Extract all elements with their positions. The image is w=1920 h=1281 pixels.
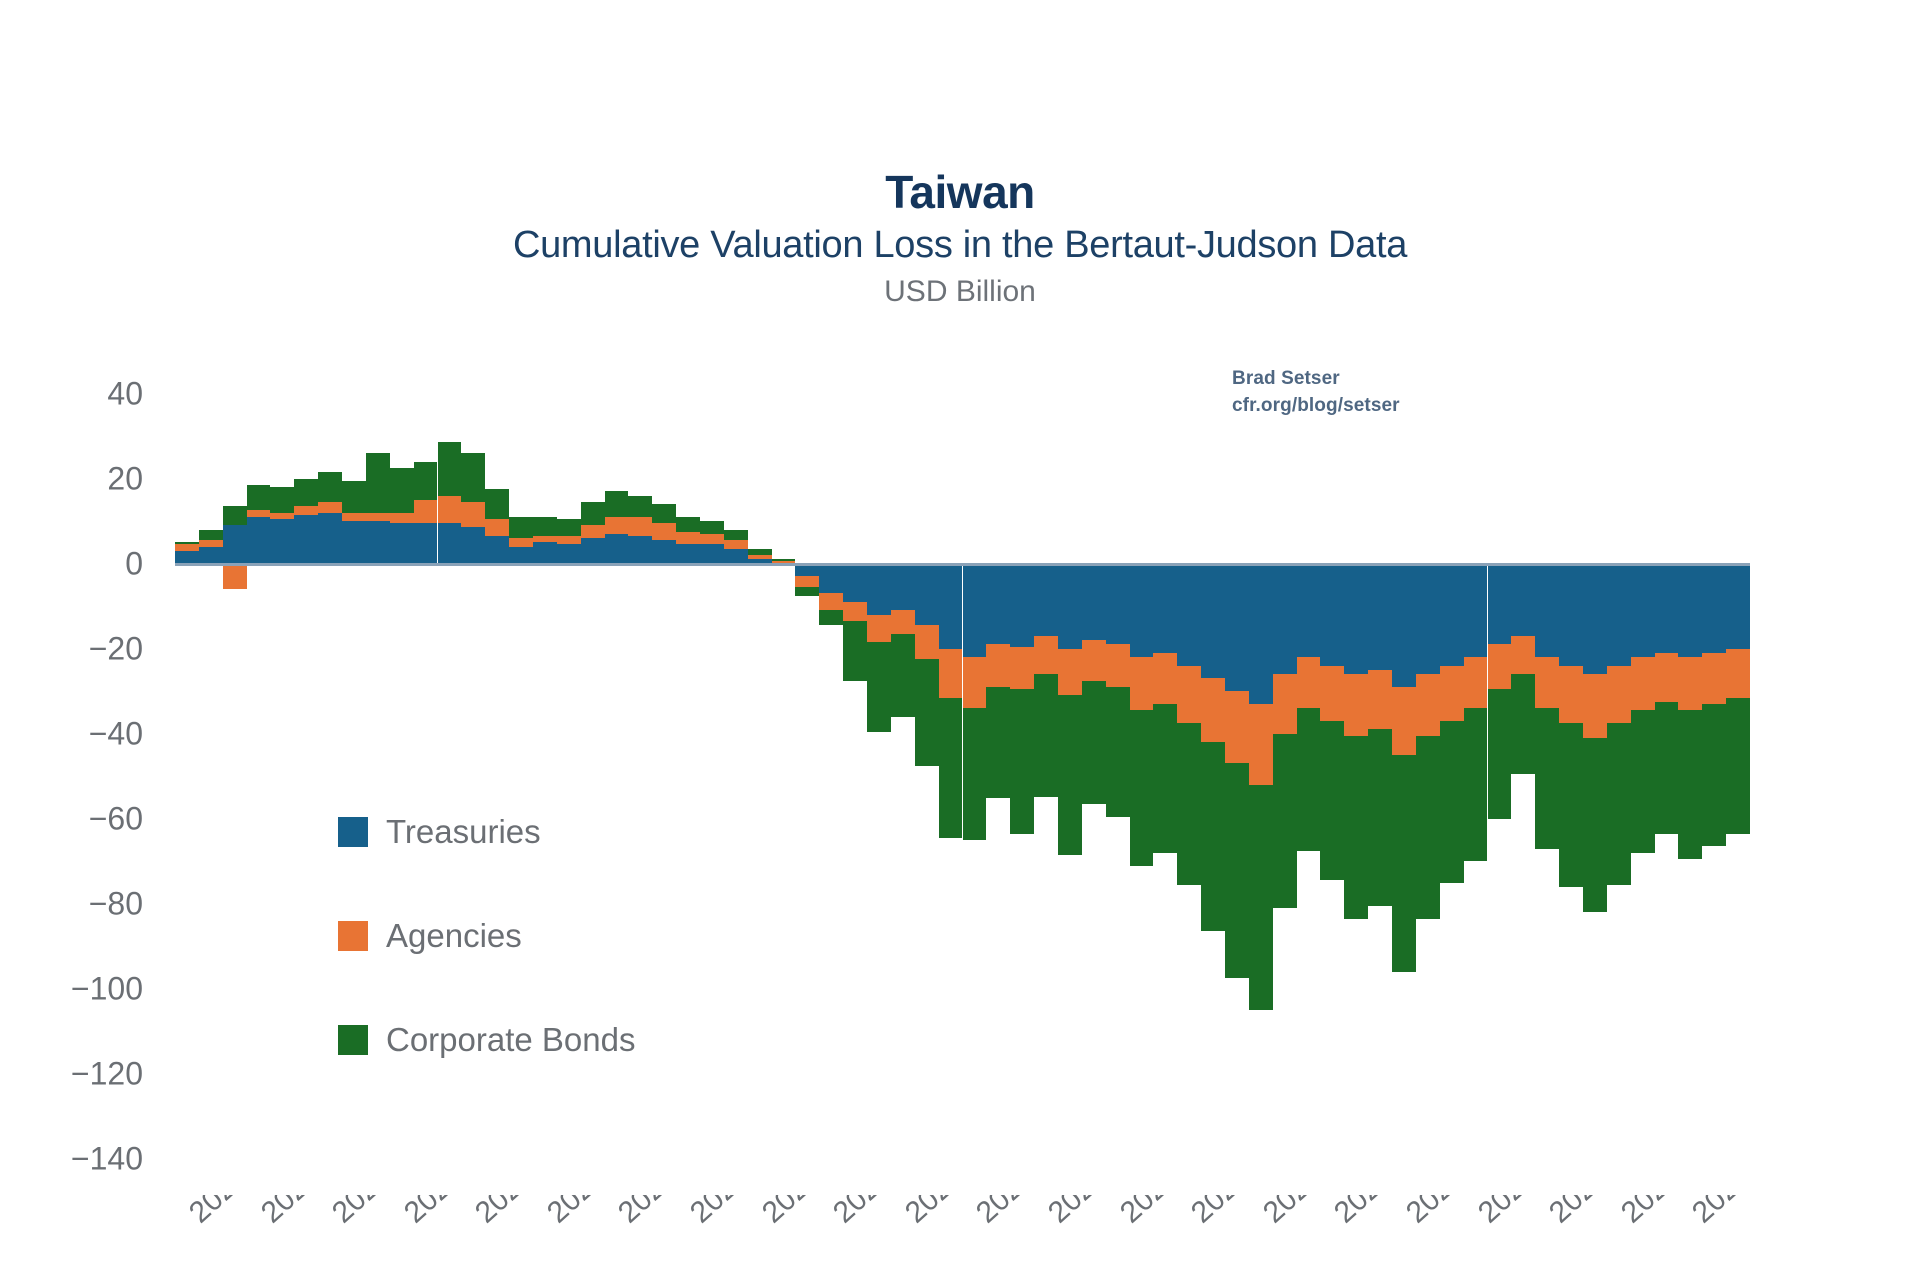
bar-segment-agencies [1440, 666, 1464, 721]
bar-segment-treasuries [294, 515, 318, 564]
bar-segment-treasuries [724, 549, 748, 564]
bar-segment-agencies [1010, 647, 1034, 690]
bar-column[interactable] [223, 368, 247, 1193]
bar-segment-corporate-bonds [1655, 702, 1679, 834]
bar-segment-corporate-bonds [915, 659, 939, 765]
bar-column[interactable] [1488, 368, 1512, 1193]
x-axis-tick-label: 2020 [183, 1195, 255, 1230]
bar-segment-treasuries [390, 523, 414, 563]
bar-column[interactable] [700, 368, 724, 1193]
bar-column[interactable] [1631, 368, 1655, 1193]
bar-segment-agencies [819, 593, 843, 610]
bar-segment-corporate-bonds [270, 487, 294, 513]
bar-column[interactable] [1153, 368, 1177, 1193]
bar-segment-agencies [891, 610, 915, 633]
bar-segment-corporate-bonds [1034, 674, 1058, 797]
bar-segment-agencies [581, 525, 605, 538]
x-axis-tick-label: 2021 [541, 1195, 613, 1230]
bar-segment-agencies [199, 540, 223, 546]
x-axis: 2020202020202020202120212021202120222022… [175, 1195, 1750, 1281]
bar-column[interactable] [1082, 368, 1106, 1193]
bar-segment-treasuries [1416, 564, 1440, 675]
bar-column[interactable] [1535, 368, 1559, 1193]
bar-segment-corporate-bonds [1344, 736, 1368, 919]
bar-segment-corporate-bonds [533, 517, 557, 536]
bar-segment-agencies [867, 615, 891, 643]
bar-segment-agencies [1058, 649, 1082, 696]
bar-segment-corporate-bonds [1607, 723, 1631, 885]
bar-segment-agencies [557, 536, 581, 545]
bar-segment-agencies [366, 513, 390, 522]
bar-segment-agencies [1702, 653, 1726, 704]
x-axis-tick-label: 2021 [684, 1195, 756, 1230]
bar-segment-treasuries [1607, 564, 1631, 666]
bar-segment-agencies [1273, 674, 1297, 734]
bar-segment-treasuries [1153, 564, 1177, 653]
y-axis-tick-label: −140 [71, 1140, 143, 1177]
bar-segment-corporate-bonds [1082, 681, 1106, 804]
x-axis-tick-label: 2020 [255, 1195, 327, 1230]
bar-column[interactable] [963, 368, 987, 1193]
bar-segment-agencies [963, 657, 987, 708]
bar-segment-corporate-bonds [795, 587, 819, 596]
bar-column[interactable] [175, 368, 199, 1193]
y-axis-tick-label: −40 [89, 715, 143, 752]
x-axis-tick-label: 2024 [1328, 1195, 1400, 1230]
bar-segment-agencies [247, 510, 271, 516]
x-axis-tick-label: 2025 [1686, 1195, 1750, 1230]
bar-segment-treasuries [414, 523, 438, 563]
bar-segment-treasuries [366, 521, 390, 564]
bar-segment-agencies [533, 536, 557, 542]
bar-segment-agencies [1416, 674, 1440, 736]
legend-swatch-icon [338, 1025, 368, 1055]
bar-column[interactable] [772, 368, 796, 1193]
bar-column[interactable] [294, 368, 318, 1193]
bar-segment-agencies [605, 517, 629, 534]
bar-segment-treasuries [1559, 564, 1583, 666]
bar-segment-corporate-bonds [509, 517, 533, 538]
x-axis-tick-label: 2025 [1615, 1195, 1687, 1230]
bar-column[interactable] [986, 368, 1010, 1193]
bar-column[interactable] [1201, 368, 1225, 1193]
bar-column[interactable] [1726, 368, 1750, 1193]
y-axis: 40200−20−40−60−80−100−120−140 [0, 368, 175, 1193]
bar-column[interactable] [1702, 368, 1726, 1193]
bar-column[interactable] [1392, 368, 1416, 1193]
bar-column[interactable] [676, 368, 700, 1193]
x-axis-tick-label: 2022 [827, 1195, 899, 1230]
bar-segment-treasuries [1130, 564, 1154, 658]
bar-column[interactable] [1344, 368, 1368, 1193]
bar-segment-corporate-bonds [1153, 704, 1177, 853]
bar-column[interactable] [652, 368, 676, 1193]
bar-column[interactable] [748, 368, 772, 1193]
bar-column[interactable] [1559, 368, 1583, 1193]
bar-column[interactable] [724, 368, 748, 1193]
bar-segment-treasuries [628, 536, 652, 564]
bar-segment-agencies [1082, 640, 1106, 680]
bar-column[interactable] [1416, 368, 1440, 1193]
bar-segment-treasuries [509, 547, 533, 564]
bar-segment-treasuries [1010, 564, 1034, 647]
bar-column[interactable] [1320, 368, 1344, 1193]
x-axis-tick-label: 2023 [1257, 1195, 1329, 1230]
bar-segment-agencies [1464, 657, 1488, 708]
bar-segment-corporate-bonds [1273, 734, 1297, 908]
legend-item-corporate[interactable]: Corporate Bonds [338, 988, 635, 1092]
bar-segment-corporate-bonds [461, 453, 485, 502]
bar-segment-agencies [1344, 674, 1368, 736]
bar-segment-treasuries [533, 542, 557, 563]
bar-segment-agencies [175, 544, 199, 550]
legend-swatch-icon [338, 921, 368, 951]
bar-segment-agencies [1583, 674, 1607, 738]
bar-segment-treasuries [891, 564, 915, 611]
bar-column[interactable] [1106, 368, 1130, 1193]
bar-column[interactable] [939, 368, 963, 1193]
bar-segment-corporate-bonds [1416, 736, 1440, 919]
bar-segment-treasuries [1464, 564, 1488, 658]
bar-segment-agencies [1106, 644, 1130, 687]
bar-segment-agencies [1225, 691, 1249, 763]
bar-segment-treasuries [1201, 564, 1225, 679]
bar-segment-corporate-bonds [485, 489, 509, 519]
bar-segment-agencies [1034, 636, 1058, 674]
bar-segment-treasuries [1583, 564, 1607, 675]
bar-segment-corporate-bonds [414, 462, 438, 500]
bar-segment-corporate-bonds [748, 549, 772, 555]
bar-segment-corporate-bonds [1488, 689, 1512, 819]
bar-segment-agencies [1678, 657, 1702, 710]
y-axis-tick-label: −100 [71, 970, 143, 1007]
bar-segment-agencies [1320, 666, 1344, 721]
bar-segment-treasuries [247, 517, 271, 564]
bar-segment-corporate-bonds [1368, 729, 1392, 905]
bar-segment-corporate-bonds [1177, 723, 1201, 885]
x-axis-tick-label: 2021 [612, 1195, 684, 1230]
bar-segment-agencies [628, 517, 652, 536]
bar-segment-agencies [652, 523, 676, 540]
bar-segment-treasuries [1368, 564, 1392, 670]
bar-segment-agencies [986, 644, 1010, 687]
bar-segment-corporate-bonds [557, 519, 581, 536]
zero-baseline [175, 563, 1750, 566]
chart-subtitle: Cumulative Valuation Loss in the Bertaut… [0, 225, 1920, 267]
legend-item-label: Agencies [386, 917, 522, 955]
bar-segment-agencies [1559, 666, 1583, 723]
bar-segment-treasuries [1655, 564, 1679, 653]
bar-segment-treasuries [1058, 564, 1082, 649]
bar-segment-treasuries [1726, 564, 1750, 649]
bar-segment-agencies [270, 513, 294, 519]
bar-segment-agencies [1631, 657, 1655, 710]
bar-segment-corporate-bonds [1297, 708, 1321, 850]
bar-segment-treasuries [1392, 564, 1416, 687]
y-axis-tick-label: −120 [71, 1055, 143, 1092]
bar-segment-treasuries [843, 564, 867, 602]
y-axis-tick-label: −80 [89, 885, 143, 922]
bar-column[interactable] [1249, 368, 1273, 1193]
bar-segment-corporate-bonds [366, 453, 390, 513]
bar-segment-treasuries [1273, 564, 1297, 675]
bar-column[interactable] [1297, 368, 1321, 1193]
bar-segment-agencies [509, 538, 533, 547]
bar-segment-corporate-bonds [1225, 763, 1249, 978]
x-axis-tick-label: 2022 [970, 1195, 1042, 1230]
bar-column[interactable] [1511, 368, 1535, 1193]
bar-column[interactable] [819, 368, 843, 1193]
bar-segment-treasuries [438, 523, 462, 563]
legend: TreasuriesAgenciesCorporate Bonds [338, 780, 635, 1092]
bar-segment-corporate-bonds [342, 481, 366, 513]
bar-segment-corporate-bonds [390, 468, 414, 513]
bar-segment-corporate-bonds [1010, 689, 1034, 834]
x-axis-tick-label: 2022 [756, 1195, 828, 1230]
bar-segment-corporate-bonds [867, 642, 891, 731]
title-block: Taiwan Cumulative Valuation Loss in the … [0, 168, 1920, 308]
bar-segment-treasuries [557, 544, 581, 563]
bar-segment-agencies [1153, 653, 1177, 704]
bar-segment-corporate-bonds [1058, 695, 1082, 854]
bar-segment-corporate-bonds [581, 502, 605, 525]
x-axis-tick-label: 2024 [1543, 1195, 1615, 1230]
bar-column[interactable] [1440, 368, 1464, 1193]
y-axis-tick-label: −60 [89, 800, 143, 837]
bar-segment-treasuries [819, 564, 843, 594]
bar-segment-agencies [414, 500, 438, 523]
bar-segment-treasuries [963, 564, 987, 658]
y-axis-tick-label: 40 [107, 375, 143, 412]
bar-segment-corporate-bonds [199, 530, 223, 541]
y-axis-tick-label: −20 [89, 630, 143, 667]
bar-column[interactable] [1607, 368, 1631, 1193]
bar-segment-agencies [1201, 678, 1225, 742]
x-axis-tick-label: 2023 [1042, 1195, 1114, 1230]
bar-segment-agencies [1607, 666, 1631, 723]
legend-item-label: Treasuries [386, 813, 541, 851]
bar-column[interactable] [843, 368, 867, 1193]
bar-column[interactable] [867, 368, 891, 1193]
bar-segment-agencies [1177, 666, 1201, 723]
bar-segment-treasuries [1225, 564, 1249, 692]
bar-column[interactable] [915, 368, 939, 1193]
bar-column[interactable] [1225, 368, 1249, 1193]
x-axis-tick-label: 2024 [1472, 1195, 1544, 1230]
x-axis-tick-label: 2021 [469, 1195, 541, 1230]
bar-segment-agencies [1535, 657, 1559, 708]
bar-segment-treasuries [223, 525, 247, 563]
bar-segment-corporate-bonds [175, 542, 199, 544]
bar-segment-agencies [1297, 657, 1321, 708]
bar-segment-treasuries [1702, 564, 1726, 653]
bar-segment-corporate-bonds [891, 634, 915, 717]
bar-segment-treasuries [1344, 564, 1368, 675]
bar-segment-agencies [724, 540, 748, 549]
bar-segment-corporate-bonds [700, 521, 724, 534]
bar-column[interactable] [1655, 368, 1679, 1193]
bar-segment-agencies [390, 513, 414, 524]
bar-segment-corporate-bonds [628, 496, 652, 517]
page-title: Taiwan [0, 168, 1920, 217]
bar-segment-treasuries [605, 534, 629, 564]
bar-column[interactable] [1464, 368, 1488, 1193]
bar-segment-corporate-bonds [1392, 755, 1416, 972]
bar-segment-corporate-bonds [724, 530, 748, 541]
bar-segment-agencies [461, 502, 485, 528]
bar-column[interactable] [199, 368, 223, 1193]
bar-column[interactable] [795, 368, 819, 1193]
bar-column[interactable] [1130, 368, 1154, 1193]
bar-segment-agencies [223, 564, 247, 590]
bar-segment-corporate-bonds [294, 479, 318, 507]
bar-segment-corporate-bonds [939, 698, 963, 838]
bar-segment-agencies [1368, 670, 1392, 730]
bar-segment-corporate-bonds [1583, 738, 1607, 912]
bar-segment-corporate-bonds [676, 517, 700, 532]
bar-segment-treasuries [1082, 564, 1106, 641]
bar-segment-corporate-bonds [1702, 704, 1726, 846]
legend-item-agencies[interactable]: Agencies [338, 884, 635, 988]
x-axis-tick-label: 2023 [1114, 1195, 1186, 1230]
bar-segment-corporate-bonds [1320, 721, 1344, 880]
bar-segment-agencies [438, 496, 462, 524]
bar-segment-treasuries [939, 564, 963, 649]
bar-segment-treasuries [318, 513, 342, 564]
bar-segment-agencies [676, 532, 700, 545]
bar-segment-treasuries [986, 564, 1010, 645]
bar-segment-corporate-bonds [1726, 698, 1750, 834]
bar-segment-corporate-bonds [318, 472, 342, 502]
bar-segment-treasuries [1488, 564, 1512, 645]
bar-segment-agencies [795, 576, 819, 587]
bar-segment-treasuries [1320, 564, 1344, 666]
bar-column[interactable] [1273, 368, 1297, 1193]
bar-segment-corporate-bonds [986, 687, 1010, 798]
bar-segment-corporate-bonds [1130, 710, 1154, 865]
bar-segment-corporate-bonds [1106, 687, 1130, 817]
bar-segment-treasuries [1034, 564, 1058, 636]
bar-segment-treasuries [676, 544, 700, 563]
bar-segment-treasuries [485, 536, 509, 564]
bar-segment-corporate-bonds [1464, 708, 1488, 861]
bar-segment-agencies [1655, 653, 1679, 702]
bar-segment-agencies [1726, 649, 1750, 698]
bar-segment-corporate-bonds [1678, 710, 1702, 859]
bar-segment-treasuries [1249, 564, 1273, 704]
bar-segment-agencies [1130, 657, 1154, 710]
chart-container: Taiwan Cumulative Valuation Loss in the … [0, 0, 1920, 1281]
bar-segment-corporate-bonds [819, 610, 843, 625]
bar-segment-corporate-bonds [963, 708, 987, 840]
bar-segment-corporate-bonds [223, 506, 247, 525]
bar-segment-treasuries [915, 564, 939, 626]
bar-segment-corporate-bonds [843, 621, 867, 681]
bar-segment-treasuries [1511, 564, 1535, 636]
bar-segment-treasuries [1106, 564, 1130, 645]
bar-segment-agencies [700, 534, 724, 545]
x-axis-tick-label: 2020 [326, 1195, 398, 1230]
bar-segment-treasuries [1440, 564, 1464, 666]
bar-segment-treasuries [1678, 564, 1702, 658]
bar-column[interactable] [1368, 368, 1392, 1193]
bar-column[interactable] [1010, 368, 1034, 1193]
x-axis-tick-label: 2024 [1400, 1195, 1472, 1230]
bar-segment-corporate-bonds [247, 485, 271, 511]
bar-segment-agencies [1249, 704, 1273, 785]
legend-swatch-icon [338, 817, 368, 847]
bar-segment-corporate-bonds [772, 559, 796, 561]
bar-segment-corporate-bonds [1201, 742, 1225, 931]
bar-segment-corporate-bonds [1535, 708, 1559, 848]
bar-segment-agencies [843, 602, 867, 621]
bar-segment-treasuries [1535, 564, 1559, 658]
bar-segment-treasuries [199, 547, 223, 564]
x-axis-tick-label: 2020 [398, 1195, 470, 1230]
legend-item-label: Corporate Bonds [386, 1021, 635, 1059]
bar-column[interactable] [270, 368, 294, 1193]
bar-segment-agencies [294, 506, 318, 515]
bar-segment-treasuries [700, 544, 724, 563]
bar-segment-corporate-bonds [1249, 785, 1273, 1010]
bar-segment-corporate-bonds [1511, 674, 1535, 774]
bar-column[interactable] [1177, 368, 1201, 1193]
bar-segment-agencies [1392, 687, 1416, 755]
bar-segment-corporate-bonds [652, 504, 676, 523]
bar-segment-agencies [318, 502, 342, 513]
bar-segment-treasuries [652, 540, 676, 563]
bar-column[interactable] [247, 368, 271, 1193]
y-axis-tick-label: 0 [125, 545, 143, 582]
bar-segment-agencies [748, 555, 772, 559]
bar-column[interactable] [1034, 368, 1058, 1193]
bar-segment-agencies [1488, 644, 1512, 689]
bar-segment-agencies [342, 513, 366, 522]
bar-segment-treasuries [867, 564, 891, 615]
bar-segment-agencies [1511, 636, 1535, 674]
bar-segment-corporate-bonds [1631, 710, 1655, 852]
y-axis-tick-label: 20 [107, 460, 143, 497]
bar-segment-agencies [485, 519, 509, 536]
bar-segment-treasuries [1297, 564, 1321, 658]
bar-segment-corporate-bonds [1559, 723, 1583, 887]
bar-segment-treasuries [1177, 564, 1201, 666]
x-axis-tick-label: 2022 [899, 1195, 971, 1230]
bar-segment-corporate-bonds [1440, 721, 1464, 883]
bar-column[interactable] [1058, 368, 1082, 1193]
bar-column[interactable] [1678, 368, 1702, 1193]
bar-segment-corporate-bonds [438, 442, 462, 495]
bar-column[interactable] [891, 368, 915, 1193]
x-axis-tick-label: 2023 [1185, 1195, 1257, 1230]
bar-segment-agencies [939, 649, 963, 698]
bar-segment-treasuries [270, 519, 294, 564]
bar-column[interactable] [1583, 368, 1607, 1193]
bar-segment-treasuries [342, 521, 366, 564]
bar-segment-treasuries [581, 538, 605, 564]
bar-segment-corporate-bonds [605, 491, 629, 517]
bar-segment-treasuries [461, 527, 485, 563]
bar-segment-treasuries [1631, 564, 1655, 658]
bar-segment-agencies [915, 625, 939, 659]
legend-item-treasuries[interactable]: Treasuries [338, 780, 635, 884]
chart-units-label: USD Billion [0, 275, 1920, 308]
